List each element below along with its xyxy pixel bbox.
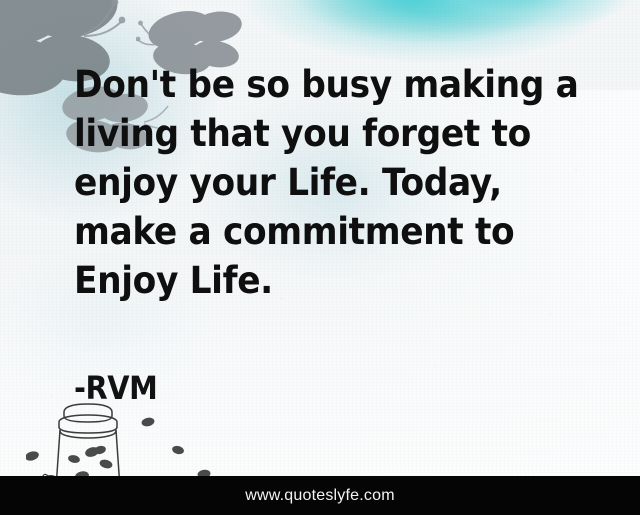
quote-line-5: Enjoy Life. bbox=[74, 256, 558, 305]
quote-text-block: Don't be so busy making a living that yo… bbox=[74, 60, 594, 305]
quote-line-3: enjoy your Life. Today, bbox=[74, 158, 558, 207]
quote-line-2: living that you forget to bbox=[74, 109, 558, 158]
quote-line-4: make a commitment to bbox=[74, 207, 558, 256]
quote-card: Don't be so busy making a living that yo… bbox=[0, 0, 640, 515]
footer-watermark-bar: www.quoteslyfe.com bbox=[0, 476, 640, 515]
quote-line-1: Don't be so busy making a bbox=[74, 60, 558, 109]
footer-website-url[interactable]: www.quoteslyfe.com bbox=[245, 487, 394, 505]
